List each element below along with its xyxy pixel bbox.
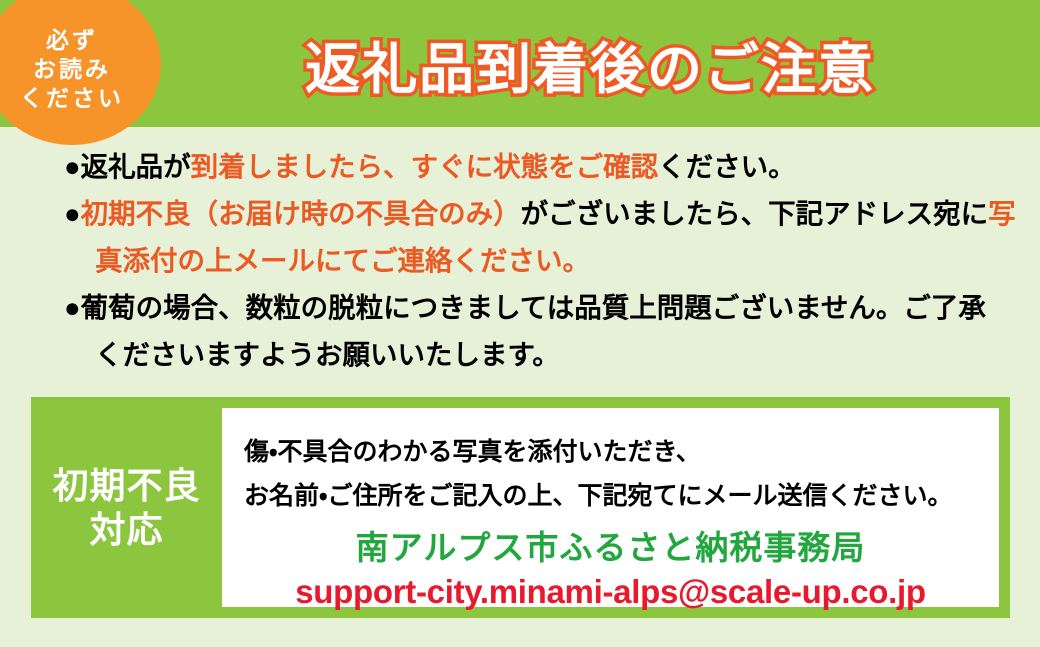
contact-label-line-1: 初期不良 (52, 465, 200, 506)
notice-initial-defect-segment-4: 写 (988, 198, 1016, 229)
instruction-line-2: お名前・ご住所をご記入の上、下記宛てにメール送信ください。 (244, 474, 999, 518)
organization-name: 南アルプス市ふるさと納税事務局 (244, 526, 999, 570)
notice-list: ●返礼品が到着しましたら、すぐに状態をご確認ください。●初期不良（お届け時の不具… (64, 143, 1024, 378)
badge-line-2: お読み (33, 57, 111, 81)
notice-arrival-check-segment-2: 到着しましたら、すぐに状態をご確認 (191, 151, 659, 182)
initial-defect-label: 初期不良 対応 (31, 397, 222, 618)
contact-label-line-2: 対応 (89, 509, 163, 550)
notice-initial-defect-cont-segment-1: 真添付の上メールにてご連絡ください。 (95, 245, 590, 276)
notice-initial-defect: ●初期不良（お届け時の不具合のみ）がございましたら、下記アドレス宛に写 (64, 190, 1024, 237)
notice-initial-defect-segment-3: がございましたら、下記アドレス宛に (521, 198, 989, 229)
badge-line-1: 必ず (46, 28, 98, 52)
notice-grape-drop-cont-segment-1: くださいますようお願いいたします。 (95, 339, 560, 370)
notice-grape-drop-segment-1: ●葡萄の場合、数粒の脱粒につきましては品質上問題ございません。ご了承 (64, 292, 986, 323)
contact-details-panel: 傷・不具合のわかる写真を添付いただき、 お名前・ご住所をご記入の上、下記宛てにメ… (222, 408, 999, 607)
notice-initial-defect-segment-2: 初期不良（お届け時の不具合のみ） (81, 198, 521, 229)
initial-defect-contact-box: 初期不良 対応 傷・不具合のわかる写真を添付いただき、 お名前・ご住所をご記入の… (31, 397, 1010, 618)
contact-email-address[interactable]: support-city.minami-alps@scale-up.co.jp (244, 570, 999, 614)
must-read-badge: 必ず お読み ください (0, 0, 161, 144)
badge-line-3: ください (20, 86, 124, 110)
notice-arrival-check: ●返礼品が到着しましたら、すぐに状態をご確認ください。 (64, 143, 1024, 190)
notice-grape-drop: ●葡萄の場合、数粒の脱粒につきましては品質上問題ございません。ご了承 (64, 284, 1024, 331)
notice-initial-defect-segment-1: ● (64, 198, 81, 229)
instruction-line-1: 傷・不具合のわかる写真を添付いただき、 (244, 430, 999, 474)
notice-arrival-check-segment-3: ください。 (658, 151, 796, 182)
notice-arrival-check-segment-1: ●返礼品が (64, 151, 191, 182)
page-title: 返礼品到着後のご注意 (180, 0, 1000, 127)
notice-initial-defect-cont: 真添付の上メールにてご連絡ください。 (64, 237, 1024, 284)
notice-grape-drop-cont: くださいますようお願いいたします。 (64, 331, 1024, 378)
